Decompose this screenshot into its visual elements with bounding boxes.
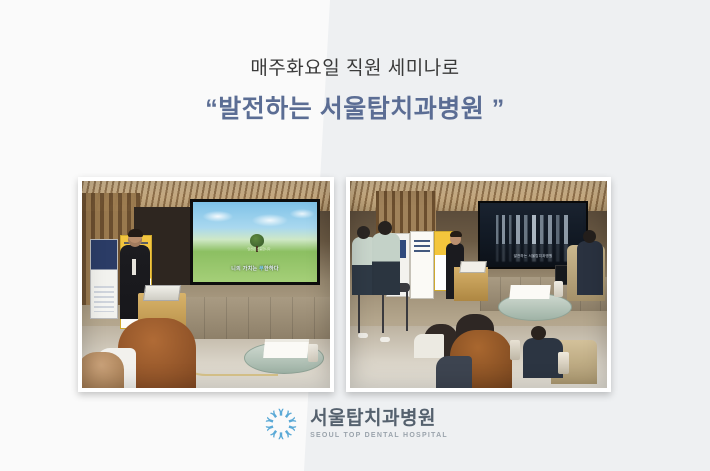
presenter-shirt (132, 259, 136, 275)
snowflake-ring-icon (262, 405, 300, 443)
poster-blue (90, 239, 118, 319)
cup-left (308, 344, 318, 362)
photo-left-content: 당신은 소중합니다 니의 가치는 무한하다 (82, 181, 330, 388)
seminar-photo-right: 발전하는 서울탑치과병원 (346, 177, 611, 392)
seated-attendee-2 (372, 233, 400, 295)
slide-small-text: 당신은 소중합니다 (248, 247, 271, 251)
cup-right-2 (510, 340, 520, 360)
logo-text-block: 서울탑치과병원 SEOUL TOP DENTAL HOSPITAL (310, 409, 448, 439)
slide-tree (250, 234, 264, 247)
slide-page: 매주화요일 직원 세미나로 “발전하는 서울탑치과병원 ” (0, 0, 710, 471)
title-block: 매주화요일 직원 세미나로 “발전하는 서울탑치과병원 ” (0, 55, 710, 127)
title-line-2: “발전하는 서울탑치과병원 ” (0, 92, 710, 127)
laptop-right (459, 261, 487, 273)
photo-row: 당신은 소중합니다 니의 가치는 무한하다 (78, 177, 623, 392)
papers-right (509, 285, 550, 299)
audience-foreground-left (118, 318, 196, 388)
slide-clouds (193, 206, 317, 232)
audience-foreground-left-2 (82, 352, 124, 388)
audience-foreground-right-1 (450, 330, 512, 388)
shoe-1 (358, 333, 368, 338)
stool-legs (382, 291, 408, 331)
seated-attendee-right-2 (523, 338, 563, 378)
shoe-2 (380, 337, 390, 342)
seated-attendee-right-1 (577, 241, 603, 295)
slide-subtitle-mid: 의 가치는 (236, 266, 259, 272)
seminar-photo-left: 당신은 소중합니다 니의 가치는 무한하다 (78, 177, 334, 392)
projection-screen-left: 당신은 소중합니다 니의 가치는 무한하다 (190, 199, 320, 285)
slide-field-image: 당신은 소중합니다 니의 가치는 무한하다 (193, 202, 317, 282)
slide-subtitle: 니의 가치는 무한하다 (193, 265, 317, 272)
logo-english-name: SEOUL TOP DENTAL HOSPITAL (310, 432, 448, 439)
hospital-logo: 서울탑치과병원 SEOUL TOP DENTAL HOSPITAL (0, 405, 710, 443)
photo-right-content: 발전하는 서울탑치과병원 (350, 181, 607, 388)
papers-left (263, 342, 309, 358)
cup-right-3 (558, 352, 569, 374)
slide-subtitle-suffix: 한하다 (264, 266, 279, 272)
title-line-1: 매주화요일 직원 세미나로 (0, 55, 710, 84)
logo-korean-name: 서울탑치과병원 (310, 409, 448, 428)
poster-right-2 (410, 231, 434, 299)
slide-skyline (493, 215, 574, 244)
laptop-left (143, 285, 181, 301)
cup-right-1 (554, 281, 563, 297)
